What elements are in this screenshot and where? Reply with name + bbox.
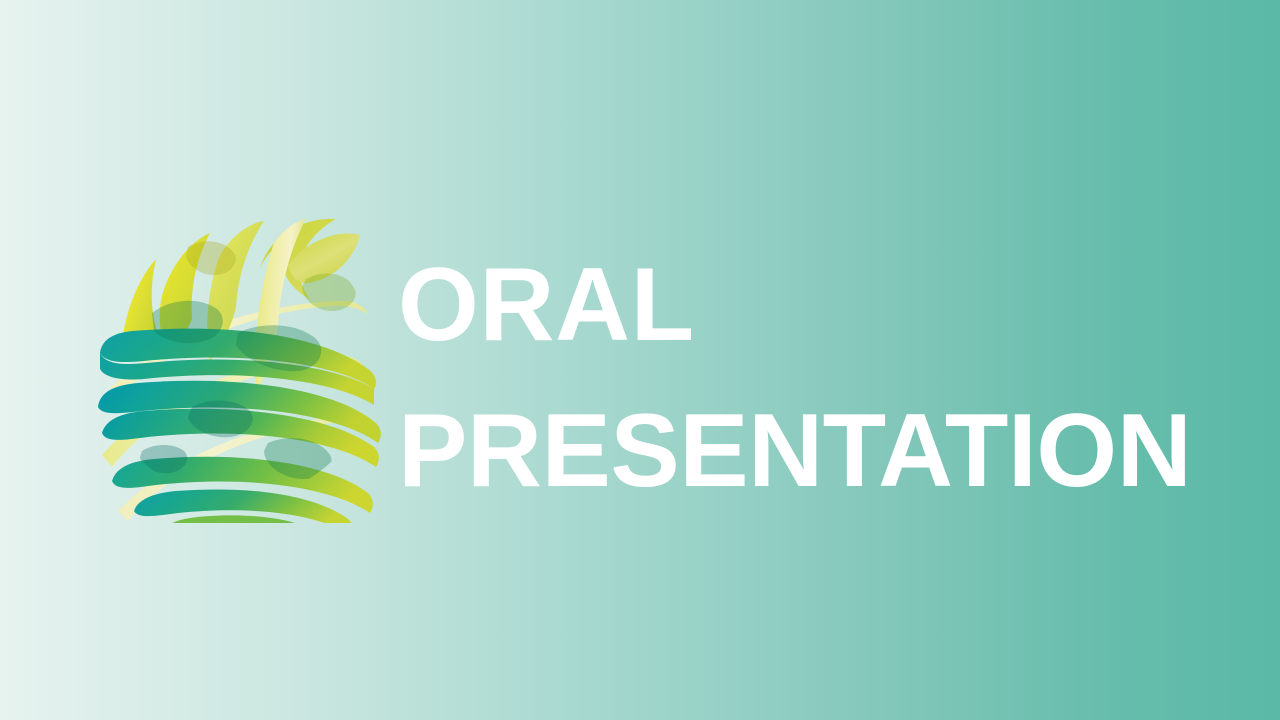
page-title: ORAL PRESENTATION: [398, 232, 1198, 524]
globe-ribbons: [98, 219, 381, 523]
title-line-oral: ORAL: [398, 232, 1198, 378]
title-slide: ORAL PRESENTATION: [0, 0, 1280, 720]
title-line-presentation: PRESENTATION: [398, 378, 1198, 524]
globe-ribbon-leaf-logo: [92, 193, 382, 523]
